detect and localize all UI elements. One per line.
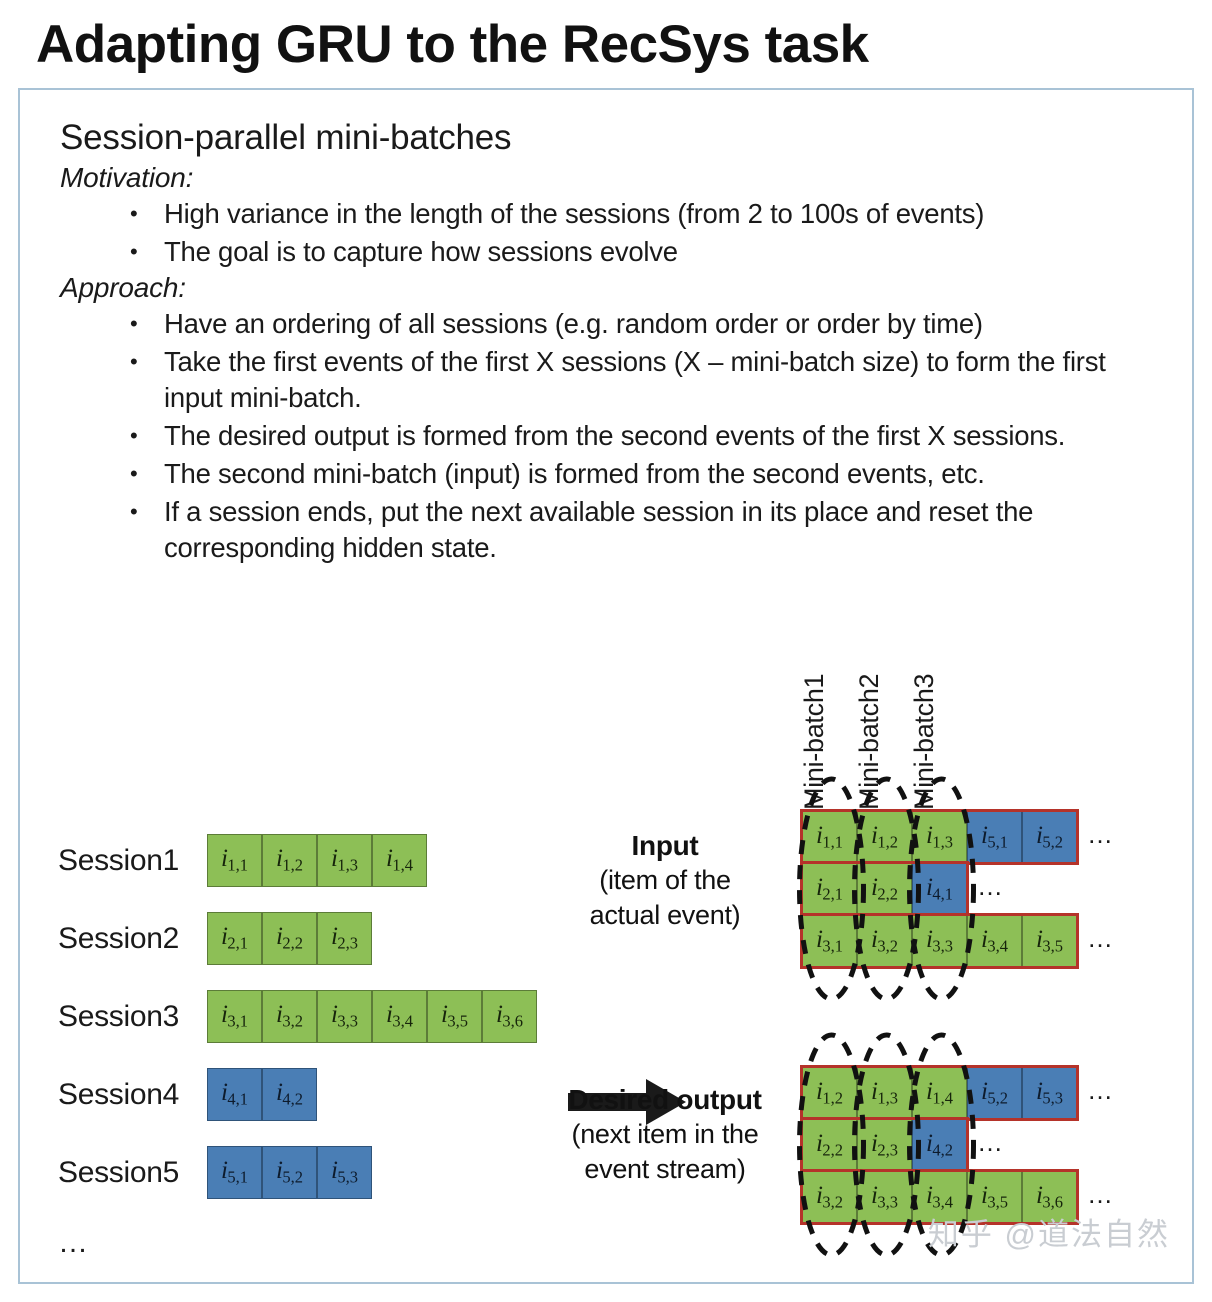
- watermark: 知乎 @道法自然: [928, 1209, 1170, 1254]
- session-parallel-diagram: Session1i1,1i1,2i1,3i1,4Session2i2,1i2,2…: [20, 90, 1196, 1286]
- content-frame: Session-parallel mini-batches Motivation…: [18, 88, 1194, 1284]
- page-title: Adapting GRU to the RecSys task: [36, 14, 869, 75]
- output-minibatch-ellipses: [20, 90, 1196, 1286]
- output-minibatch-ellipse-1: [800, 1035, 864, 1255]
